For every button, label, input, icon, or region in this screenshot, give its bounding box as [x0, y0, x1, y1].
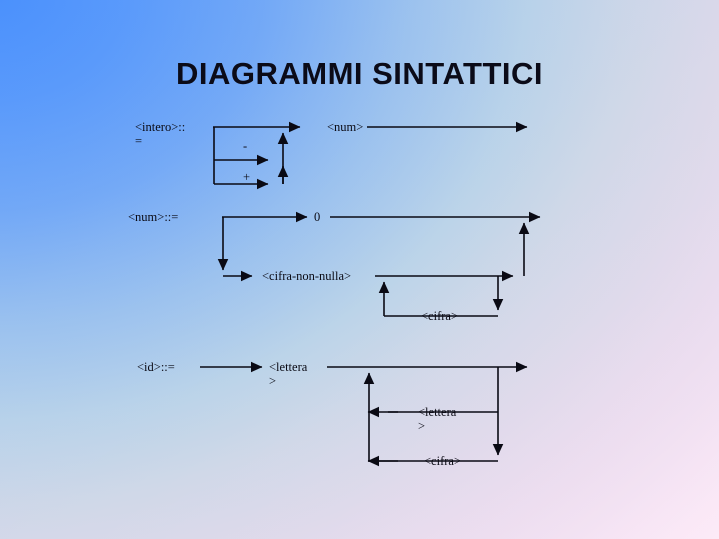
slide-canvas: DIAGRAMMI SINTATTICI	[0, 0, 719, 539]
nonterminal-lettera-loop: <lettera >	[418, 405, 456, 433]
nonterminal-cifra-non-nulla: <cifra-non-nulla>	[262, 269, 351, 283]
rule-label-id: <id>::=	[137, 360, 175, 374]
diagram-intero	[213, 127, 527, 184]
nonterminal-num-ref: <num>	[327, 120, 363, 134]
nonterminal-lettera-first: <lettera >	[269, 360, 307, 388]
rule-label-num: <num>::=	[128, 210, 178, 224]
terminal-plus: +	[243, 170, 250, 184]
nonterminal-cifra-num: <cifra>	[421, 309, 458, 323]
diagram-id	[200, 367, 527, 461]
syntax-diagrams-svg	[0, 0, 719, 539]
nonterminal-cifra-id: <cifra>	[424, 454, 461, 468]
diagram-num	[222, 217, 540, 316]
terminal-minus: -	[243, 139, 247, 153]
rule-label-intero: <intero>:: =	[135, 120, 185, 148]
terminal-zero: 0	[314, 210, 320, 224]
